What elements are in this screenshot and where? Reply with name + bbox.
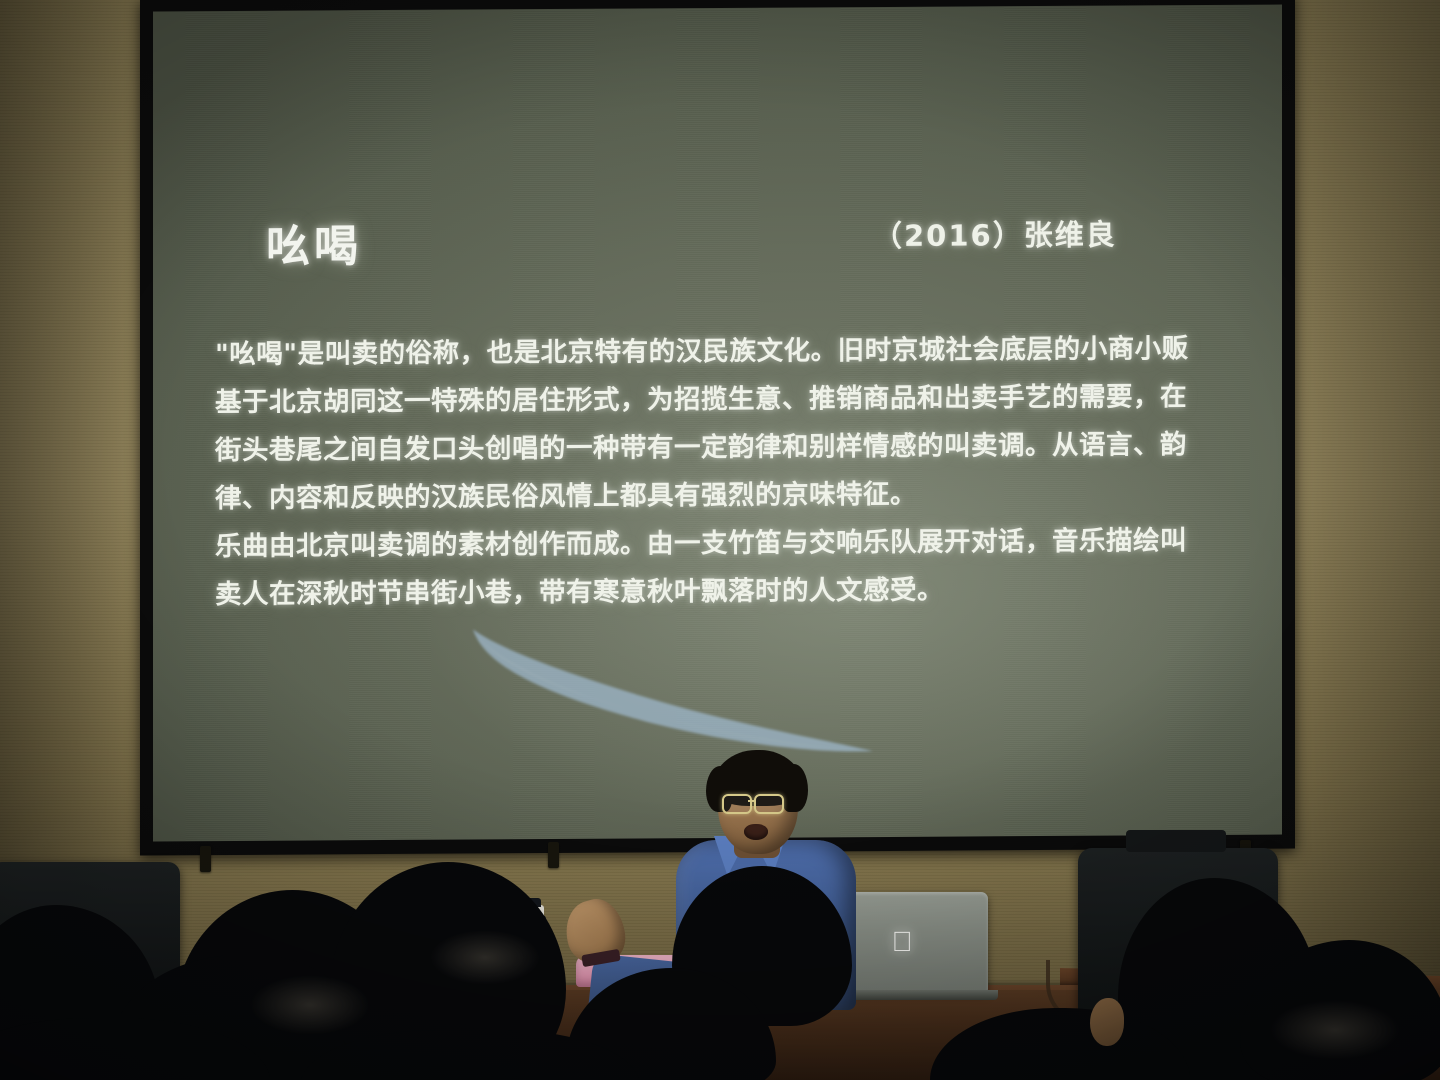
projection-screen-surface: 吆喝 （2016）张维良 "吆喝"是叫卖的俗称，也是北京特有的汉民族文化。旧时京…	[153, 5, 1282, 842]
screen-mount-hook-left	[200, 846, 211, 872]
slide-body-line-5: 乐曲由北京叫卖调的素材创作而成。由一支竹笛与交响乐队展开对话，音乐描绘叫	[215, 517, 1245, 571]
audience-ear	[1090, 998, 1124, 1046]
speaker-hair-side-right	[782, 764, 808, 812]
slide-body-line-4: 律、内容和反映的汉族民俗风情上都具有强烈的京味特征。	[215, 469, 1245, 523]
lecture-hall-photo: 吆喝 （2016）张维良 "吆喝"是叫卖的俗称，也是北京特有的汉民族文化。旧时京…	[0, 0, 1440, 1080]
apple-logo-icon: 	[889, 927, 915, 957]
presentation-slide: 吆喝 （2016）张维良 "吆喝"是叫卖的俗称，也是北京特有的汉民族文化。旧时京…	[153, 5, 1282, 842]
screen-mount-hook-center	[548, 842, 559, 868]
slide-body-line-1: "吆喝"是叫卖的俗称，也是北京特有的汉民族文化。旧时京城社会底层的小商小贩	[215, 325, 1245, 379]
speaker-mouth	[744, 824, 768, 840]
slide-body-text: "吆喝"是叫卖的俗称，也是北京特有的汉民族文化。旧时京城社会底层的小商小贩 基于…	[215, 325, 1245, 619]
eyeglasses-lens-left-icon	[722, 794, 752, 814]
slide-body-line-6: 卖人在深秋时节串街小巷，带有寒意秋叶飘落时的人文感受。	[215, 565, 1245, 619]
slide-body-line-2: 基于北京胡同这一特殊的居住形式，为招揽生意、推销商品和出卖手艺的需要，在	[215, 373, 1245, 427]
slide-title: 吆喝	[266, 210, 362, 275]
eyeglasses-bridge	[748, 800, 756, 802]
projection-screen-frame: 吆喝 （2016）张维良 "吆喝"是叫卖的俗称，也是北京特有的汉民族文化。旧时京…	[140, 0, 1295, 856]
slide-body-line-3: 街头巷尾之间自发口头创唱的一种带有一定韵律和别样情感的叫卖调。从语言、韵	[215, 421, 1245, 475]
eyeglasses-lens-right-icon	[754, 794, 784, 814]
slide-author-credit: （2016）张维良	[873, 212, 1117, 255]
